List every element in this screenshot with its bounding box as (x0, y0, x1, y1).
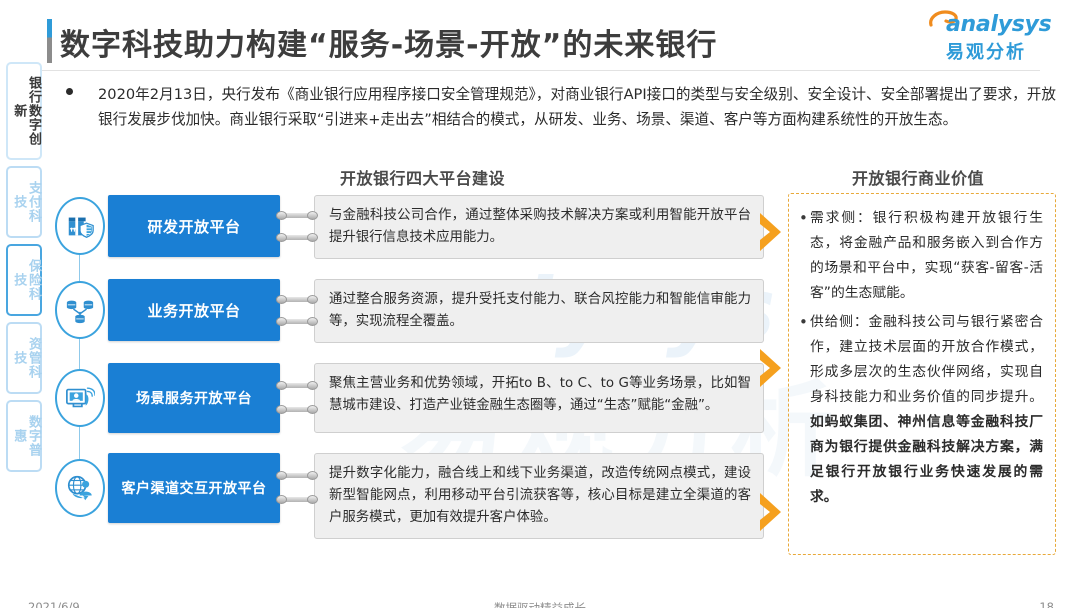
sidebar-item-label: 银行数字创新 (8, 70, 40, 151)
connector-link-icon (276, 211, 318, 220)
value-text: 需求侧：银行积极构建开放银行生态，将金融产品和服务嵌入到合作方的场景和平台中，实… (810, 206, 1043, 306)
sidebar-item-label: 资管科技 (8, 330, 40, 385)
value-text: 供给侧：金融科技公司与银行紧密合作，建立技术层面的开放合作模式，形成多层次的生态… (810, 310, 1043, 510)
intro-paragraph: 2020年2月13日，央行发布《商业银行应用程序接口安全管理规范》，对商业银行A… (98, 82, 1056, 132)
sidebar-item-insurance-tech[interactable]: 保险科技 (6, 244, 42, 316)
platform-description: 通过整合服务资源，提升受托支付能力、联合风控能力和智能信审能力等，实现流程全覆盖… (314, 279, 764, 343)
platform-icon-wrap (52, 279, 108, 341)
value-text-plain: 供给侧：金融科技公司与银行紧密合作，建立技术层面的开放合作模式，形成多层次的生态… (810, 314, 1043, 405)
database-nodes-icon (65, 295, 95, 325)
platform-description: 提升数字化能力，融合线上和线下业务渠道，改造传统网点模式，建设新型智能网点，利用… (314, 453, 764, 539)
intro-block: 2020年2月13日，央行发布《商业银行应用程序接口安全管理规范》，对商业银行A… (66, 82, 1056, 132)
sidebar-item-label: 数字普惠 (8, 408, 40, 463)
platform-connector (280, 279, 314, 343)
connector-link-icon (276, 405, 318, 414)
sidebar-item-label: 支付科技 (8, 174, 40, 229)
platform-connector (280, 195, 314, 259)
platform-icon-wrap (52, 453, 108, 523)
section-heading-business-value: 开放银行商业价值 (852, 165, 984, 189)
bullet-dot-icon: • (799, 206, 810, 306)
section-heading-platforms: 开放银行四大平台建设 (340, 165, 505, 189)
connector-link-icon (276, 295, 318, 304)
connector-link-icon (276, 317, 318, 326)
platform-row: 业务开放平台 通过整合服务资源，提升受托支付能力、联合风控能力和智能信审能力等，… (52, 279, 764, 343)
monitor-user-icon (65, 383, 95, 413)
platform-icon-wrap (52, 195, 108, 257)
value-text-emphasis: 如蚂蚁集团、神州信息等金融科技厂商为银行提供金融科技解决方案，满足银行开放银行业… (810, 414, 1043, 505)
sidebar-item-bank-digital-innovation[interactable]: 银行数字创新 (6, 62, 42, 160)
platform-connector (280, 363, 314, 433)
title-accent-bar (47, 19, 52, 63)
bullet-icon (66, 88, 73, 95)
business-value-panel: • 需求侧：银行积极构建开放银行生态，将金融产品和服务嵌入到合作方的场景和平台中… (788, 193, 1056, 555)
connector-link-icon (276, 381, 318, 390)
footer-slogan: 数据驱动精益成长 (0, 600, 1080, 608)
platform-label[interactable]: 研发开放平台 (108, 195, 280, 257)
sidebar-tabs: 银行数字创新 支付科技 保险科技 资管科技 数字普惠 (6, 62, 42, 478)
platform-row: 场景服务开放平台 聚焦主营业务和优势领域，开拓to B、to C、to G等业务… (52, 363, 764, 433)
sidebar-item-payment-tech[interactable]: 支付科技 (6, 166, 42, 238)
platform-label[interactable]: 业务开放平台 (108, 279, 280, 341)
platform-label[interactable]: 场景服务开放平台 (108, 363, 280, 433)
page-title: 数字科技助力构建“服务-场景-开放”的未来银行 (60, 20, 717, 64)
platform-row: 研发开放平台 与金融科技公司合作，通过整体采购技术解决方案或利用智能开放平台提升… (52, 195, 764, 259)
chevron-right-icon (757, 490, 787, 534)
analysys-logo: analysys 易观分析 (930, 12, 1054, 62)
slide-root: analysys 易观分析 数字科技助力构建“服务-场景-开放”的未来银行 an… (0, 0, 1080, 608)
platform-list: 研发开放平台 与金融科技公司合作，通过整体采购技术解决方案或利用智能开放平台提升… (52, 195, 764, 559)
footer-page-number: 18 (1039, 600, 1054, 608)
platform-row: 客户渠道交互开放平台 提升数字化能力，融合线上和线下业务渠道，改造传统网点模式，… (52, 453, 764, 539)
connector-link-icon (276, 495, 318, 504)
connector-link-icon (276, 233, 318, 242)
bullet-dot-icon: • (799, 310, 810, 510)
box-shield-icon (65, 211, 95, 241)
connector-link-icon (276, 471, 318, 480)
platform-icon-wrap (52, 363, 108, 433)
platform-connector (280, 453, 314, 539)
logo-text-cn: 易观分析 (946, 38, 1026, 64)
chevron-right-icon (757, 210, 787, 254)
sidebar-item-digital-inclusive-finance[interactable]: 数字普惠 (6, 400, 42, 472)
platform-description: 与金融科技公司合作，通过整体采购技术解决方案或利用智能开放平台提升银行信息技术应… (314, 195, 764, 259)
value-list-item: • 供给侧：金融科技公司与银行紧密合作，建立技术层面的开放合作模式，形成多层次的… (799, 310, 1043, 510)
globe-user-icon (65, 473, 95, 503)
header-divider (40, 70, 1040, 71)
value-list-item: • 需求侧：银行积极构建开放银行生态，将金融产品和服务嵌入到合作方的场景和平台中… (799, 206, 1043, 306)
platform-description: 聚焦主营业务和优势领域，开拓to B、to C、to G等业务场景，比如智慧城市… (314, 363, 764, 433)
sidebar-item-asset-mgmt-tech[interactable]: 资管科技 (6, 322, 42, 394)
chevron-right-icon (757, 346, 787, 390)
platform-label[interactable]: 客户渠道交互开放平台 (108, 453, 280, 523)
sidebar-item-label: 保险科技 (8, 252, 40, 307)
logo-text-en: analysys (946, 12, 1051, 37)
